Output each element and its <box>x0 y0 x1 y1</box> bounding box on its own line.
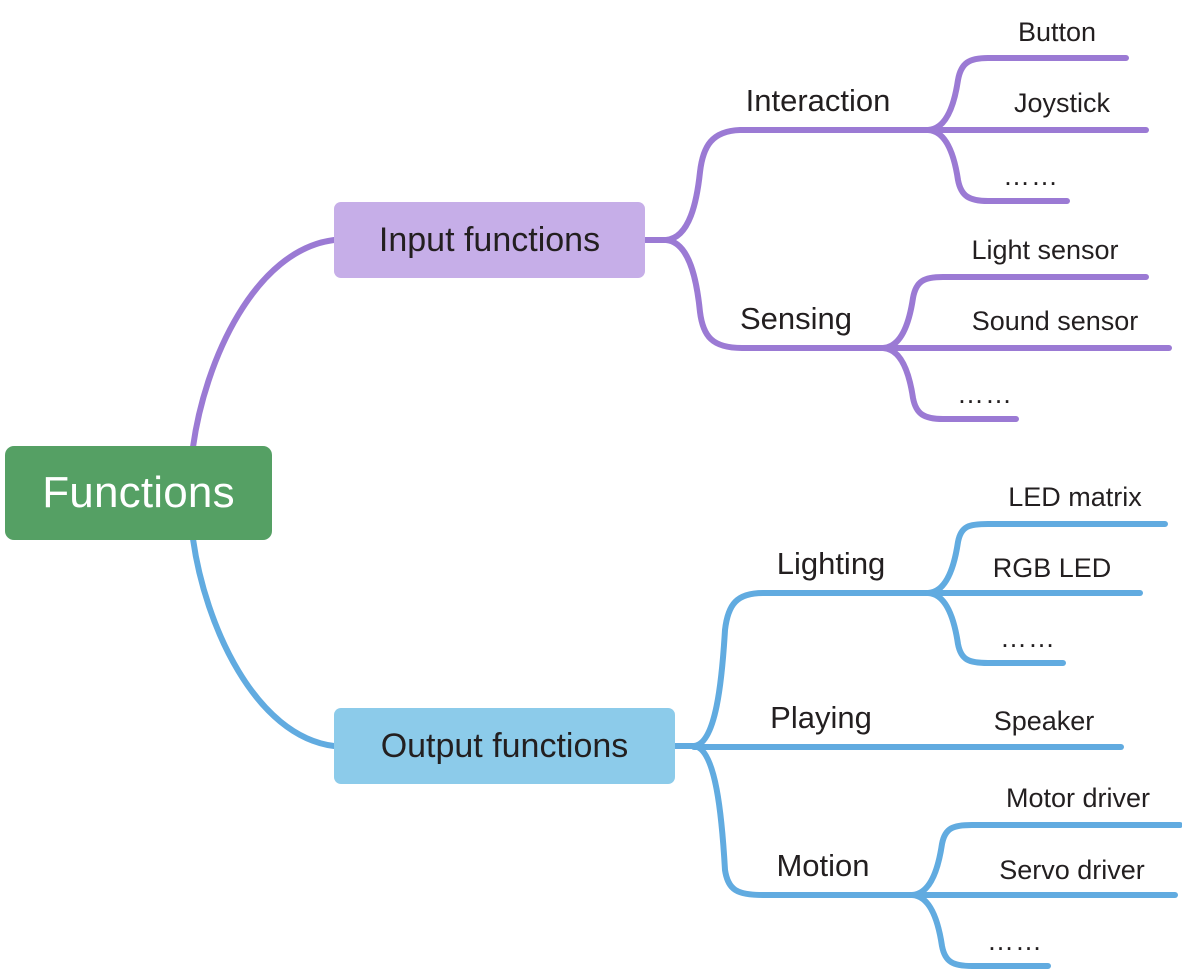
leaf-label-rgb-led[interactable]: RGB LED <box>993 555 1112 582</box>
leaf-label-more-motion[interactable]: …… <box>987 928 1043 955</box>
leaf-label-led-matrix[interactable]: LED matrix <box>1008 484 1142 511</box>
leaf-label-sound-sensor[interactable]: Sound sensor <box>972 308 1139 335</box>
mind-map-canvas: Functions Input functions Output functio… <box>0 0 1182 972</box>
edge-root-to-input <box>193 240 334 447</box>
group-label-sensing[interactable]: Sensing <box>740 303 852 334</box>
leaf-label-servo-driver[interactable]: Servo driver <box>999 857 1145 884</box>
group-label-motion[interactable]: Motion <box>776 850 869 881</box>
node-branch-input-label: Input functions <box>334 223 645 257</box>
leaf-label-more-sensing[interactable]: …… <box>957 381 1013 408</box>
leaf-label-motor-driver[interactable]: Motor driver <box>1006 785 1150 812</box>
node-branch-output-label: Output functions <box>334 729 675 763</box>
node-root-functions[interactable]: Functions <box>5 446 272 540</box>
leaf-label-button[interactable]: Button <box>1018 19 1096 46</box>
leaf-label-speaker[interactable]: Speaker <box>994 708 1095 735</box>
node-branch-output-functions[interactable]: Output functions <box>334 708 675 784</box>
group-label-lighting[interactable]: Lighting <box>777 548 886 579</box>
edge-input-to-interaction <box>666 130 930 240</box>
node-branch-input-functions[interactable]: Input functions <box>334 202 645 278</box>
group-label-interaction[interactable]: Interaction <box>746 85 891 116</box>
edge-root-to-output <box>193 539 334 746</box>
leaf-label-joystick[interactable]: Joystick <box>1014 90 1110 117</box>
leaf-label-light-sensor[interactable]: Light sensor <box>971 237 1118 264</box>
node-root-label: Functions <box>5 471 272 515</box>
leaf-label-more-lighting[interactable]: …… <box>1000 625 1056 652</box>
leaf-label-more-interaction[interactable]: …… <box>1003 163 1059 190</box>
group-label-playing[interactable]: Playing <box>770 702 872 733</box>
